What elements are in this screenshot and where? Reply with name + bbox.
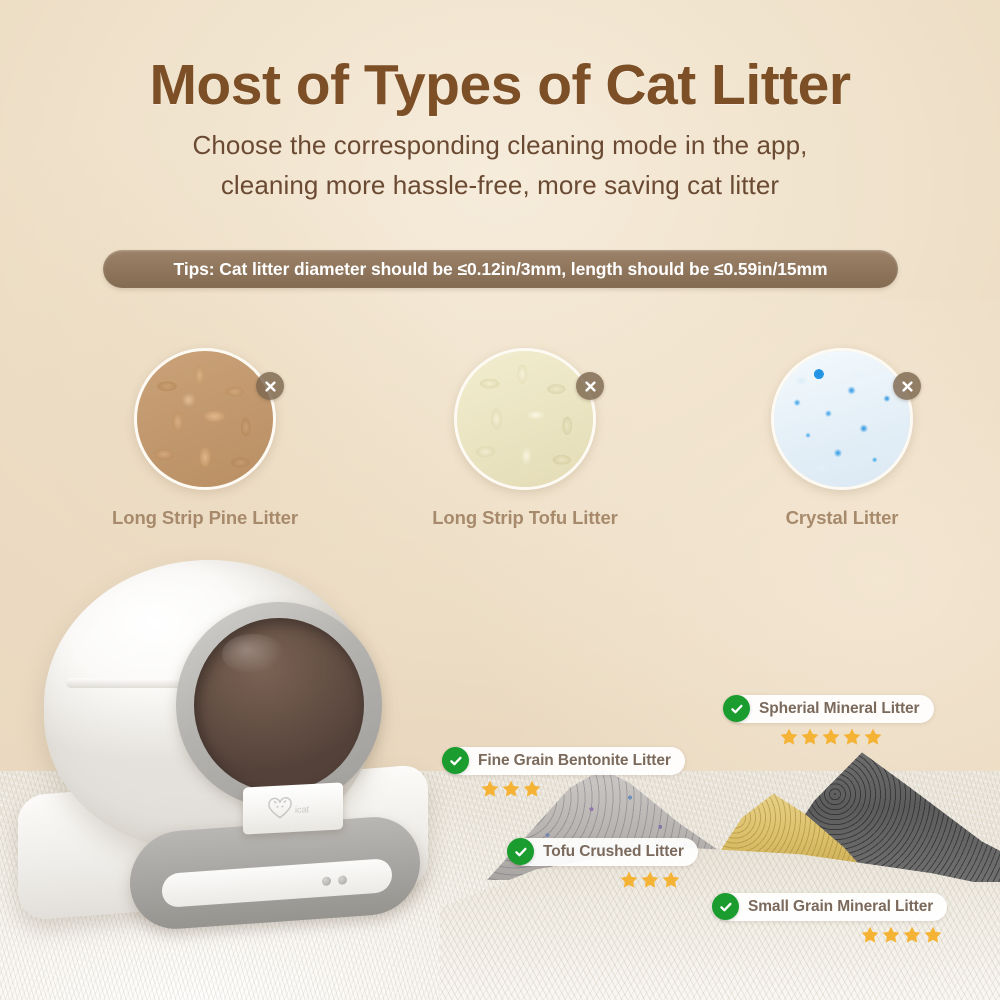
star-icon (860, 925, 880, 945)
star-icon (779, 727, 799, 747)
tips-banner: Tips: Cat litter diameter should be ≤0.1… (103, 250, 898, 288)
check-icon (442, 747, 469, 774)
litter-box-door-ring (176, 602, 382, 808)
star-rating (619, 870, 698, 890)
recommended-label: Spherial Mineral Litter (759, 700, 920, 718)
recommended-item-tofu-crushed: Tofu Crushed Litter (511, 838, 698, 890)
star-icon (863, 727, 883, 747)
svg-text:icat: icat (295, 804, 309, 815)
litter-swatch-tofu (454, 348, 596, 490)
litter-swatch-pine (134, 348, 276, 490)
recommended-item-small-grain-mineral: Small Grain Mineral Litter (716, 893, 947, 945)
star-icon (501, 779, 521, 799)
star-icon (842, 727, 862, 747)
star-icon (619, 870, 639, 890)
indicator-light-1 (322, 876, 331, 886)
litter-photo-crystal (771, 348, 913, 490)
star-icon (661, 870, 681, 890)
not-recommended-item-crystal: Crystal Litter (692, 348, 992, 529)
x-icon (576, 372, 604, 400)
litter-photo-pine (134, 348, 276, 490)
star-icon (480, 779, 500, 799)
litter-swatch-crystal (771, 348, 913, 490)
crystal-texture (774, 351, 910, 487)
star-icon (800, 727, 820, 747)
check-icon (712, 893, 739, 920)
recommended-label: Tofu Crushed Litter (543, 843, 684, 861)
infographic-stage: Most of Types of Cat Litter Choose the c… (0, 0, 1000, 1000)
litter-label-crystal: Crystal Litter (692, 507, 992, 529)
subtitle-line-2: cleaning more hassle-free, more saving c… (0, 170, 1000, 201)
subtitle-line-1: Choose the corresponding cleaning mode i… (0, 130, 1000, 161)
x-icon (893, 372, 921, 400)
entrance-highlight (222, 634, 284, 674)
pine-pellet-texture (137, 351, 273, 487)
recommended-label: Fine Grain Bentonite Litter (478, 752, 671, 770)
litter-label-pine: Long Strip Pine Litter (55, 507, 355, 529)
check-icon (723, 695, 750, 722)
recommended-item-spherial-mineral: Spherial Mineral Litter (727, 695, 934, 747)
tips-text: Tips: Cat litter diameter should be ≤0.1… (174, 259, 828, 280)
star-icon (881, 925, 901, 945)
x-icon (256, 372, 284, 400)
page-title: Most of Types of Cat Litter (0, 52, 1000, 118)
star-icon (902, 925, 922, 945)
recommended-pill: Spherial Mineral Litter (727, 695, 934, 723)
litter-box-entrance (194, 618, 364, 792)
litter-box-indicator-lights (322, 875, 352, 889)
star-rating (860, 925, 947, 945)
brand-logo-plate: icat (243, 782, 343, 834)
tofu-pellet-texture (457, 351, 593, 487)
star-icon (640, 870, 660, 890)
cat-heart-logo: icat (266, 794, 320, 823)
star-icon (923, 925, 943, 945)
indicator-light-2 (338, 875, 347, 885)
not-recommended-list: Long Strip Pine Litter Long Strip Tofu L… (0, 348, 1000, 538)
recommended-pill: Fine Grain Bentonite Litter (446, 747, 685, 775)
recommended-pill: Small Grain Mineral Litter (716, 893, 947, 921)
recommended-pill: Tofu Crushed Litter (511, 838, 698, 866)
star-rating (779, 727, 934, 747)
recommended-item-fine-grain-bentonite: Fine Grain Bentonite Litter (446, 747, 685, 799)
check-icon (507, 838, 534, 865)
not-recommended-item-tofu: Long Strip Tofu Litter (375, 348, 675, 529)
recommended-label: Small Grain Mineral Litter (748, 898, 933, 916)
not-recommended-item-pine: Long Strip Pine Litter (55, 348, 355, 529)
litter-photo-tofu (454, 348, 596, 490)
star-icon (522, 779, 542, 799)
star-rating (480, 779, 685, 799)
star-icon (821, 727, 841, 747)
litter-label-tofu: Long Strip Tofu Litter (375, 507, 675, 529)
